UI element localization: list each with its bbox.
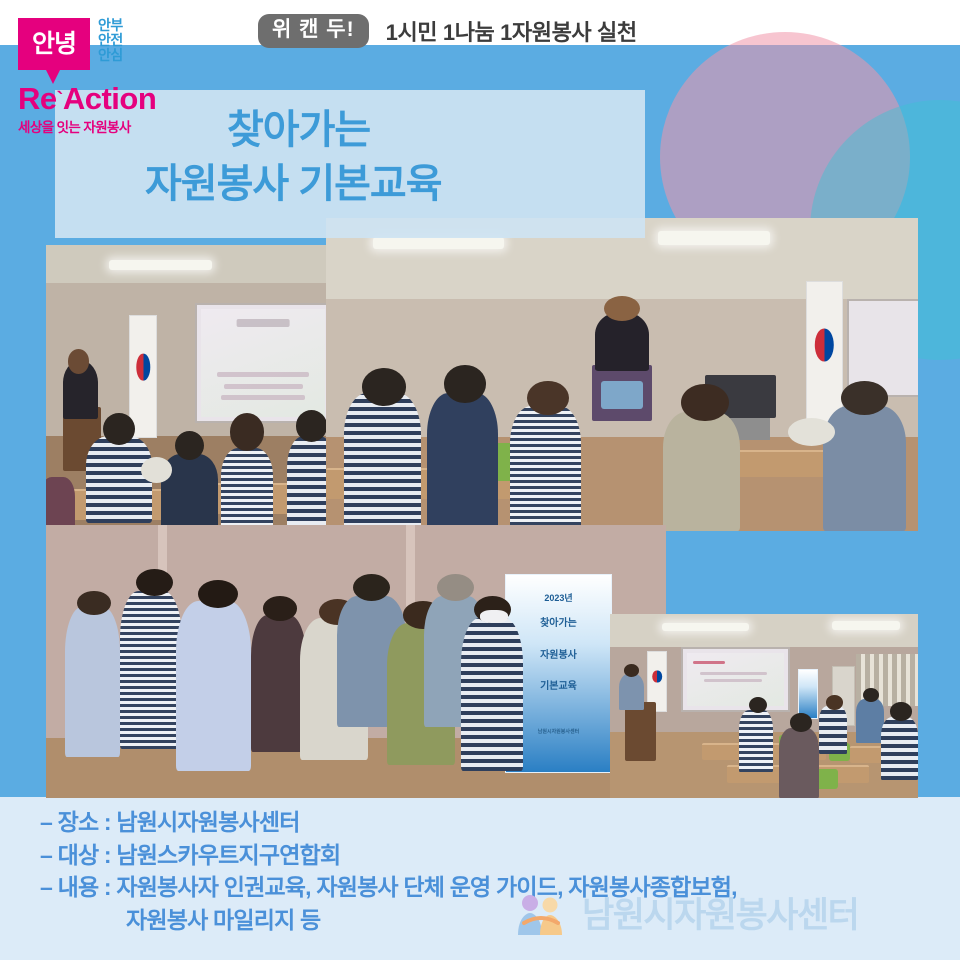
footer-line-place: – 장소 : 남원시자원봉사센터 [40,806,920,839]
brand-action: Action [63,81,156,116]
speech-bubble-icon: 안녕 [18,18,90,70]
logo-keyword-2: 안심 [98,48,123,63]
photo-classroom [610,614,918,798]
logo-keyword-0: 안부 [98,18,123,33]
photo-lecture-left [46,245,333,535]
title-line-2: 자원봉사 기본교육 [145,162,442,206]
brand-logo: 안녕 안부 안전 안심 Re`Action 세상을 잇는 자원봉사 [18,18,198,136]
logo-keywords: 안부 안전 안심 [98,18,123,63]
photo-lecture-wide [326,218,918,531]
footer-line-audience: – 대상 : 남원스카우트지구연합회 [40,839,920,872]
brand-wordmark: Re`Action 세상을 잇는 자원봉사 [18,83,198,136]
promo-card: 안녕 안부 안전 안심 Re`Action 세상을 잇는 자원봉사 위 캔 두!… [0,0,960,960]
slogan-text: 1시민 1나눔 1자원봉사 실천 [386,15,637,47]
title-line-1: 찾아가는 [227,108,370,152]
two-people-icon [512,893,570,937]
photo-collage: 2023년 찾아가는 자원봉사 기본교육 남원시자원봉사센터 [46,218,918,798]
logo-keyword-1: 안전 [98,33,123,48]
photo-group: 2023년 찾아가는 자원봉사 기본교육 남원시자원봉사센터 [46,525,666,798]
slogan-row: 위 캔 두! 1시민 1나눔 1자원봉사 실천 [258,14,637,48]
slogan-pill: 위 캔 두! [258,14,369,48]
center-logo: 남원시자원봉사센터 [512,893,858,937]
bubble-label: 안녕 [32,32,76,57]
brand-re: Re [18,81,57,116]
brand-tagline: 세상을 잇는 자원봉사 [18,116,198,136]
center-logo-name: 남원시자원봉사센터 [582,898,858,933]
brand-tick-icon: ` [57,89,63,111]
